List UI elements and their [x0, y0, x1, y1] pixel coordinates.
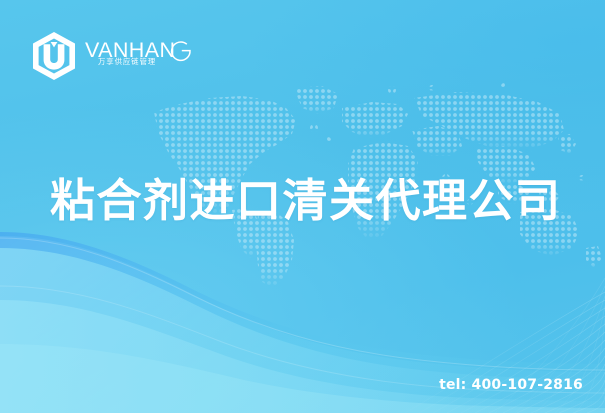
brand-g-ring-icon — [168, 37, 194, 63]
promo-banner: VANHAN 万享供应链管理 粘合剂进口清关代理公司 tel: 400-107-… — [0, 0, 605, 413]
contact-telephone[interactable]: tel: 400-107-2816 — [439, 377, 583, 393]
headline-title: 粘合剂进口清关代理公司 — [50, 178, 562, 223]
brand-logo[interactable]: VANHAN 万享供应链管理 — [30, 31, 193, 81]
vanhang-hexagon-u-logo-icon — [30, 31, 78, 81]
brand-wordmark: VANHAN 万享供应链管理 — [85, 39, 193, 73]
brand-subtitle: 万享供应链管理 — [98, 58, 156, 65]
